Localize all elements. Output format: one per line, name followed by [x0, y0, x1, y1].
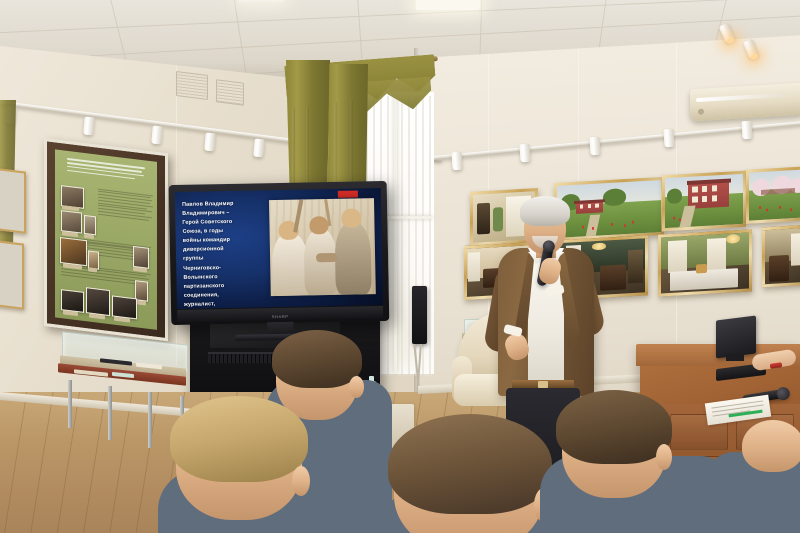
wall-frame-small — [0, 168, 26, 234]
wall-picture-red-manor — [662, 171, 746, 232]
spotlight — [519, 144, 530, 163]
slide-accent-bar — [338, 190, 358, 197]
display-case-leg — [148, 392, 152, 448]
panel-photo — [84, 215, 96, 235]
display-case-left — [56, 338, 188, 434]
ceiling-panel-light — [416, 0, 481, 10]
wall-picture-blossom-garden — [746, 166, 800, 224]
panel-photo — [133, 246, 149, 268]
cadet-hair — [388, 414, 552, 514]
tv-brand-logo: SHARP — [272, 314, 289, 319]
slide-historical-photo — [269, 198, 376, 296]
window-mullion — [394, 96, 397, 374]
computer-monitor[interactable] — [716, 318, 760, 362]
cadet-head — [742, 420, 800, 472]
wall-frame-small — [0, 240, 24, 310]
cadet-hair — [170, 396, 308, 482]
tv-screen[interactable]: Павлов Владимир Владимирович – Герой Сов… — [175, 188, 383, 309]
air-conditioner — [690, 83, 800, 122]
spotlight — [253, 139, 265, 158]
cadet-hair — [556, 390, 672, 464]
slide-text: Павлов Владимир Владимирович – Герой Сов… — [182, 199, 273, 309]
monitor-stand — [726, 354, 744, 361]
display-case-leg — [68, 380, 72, 428]
monitor-screen[interactable] — [716, 316, 756, 359]
spotlight — [589, 137, 600, 156]
panel-photo — [112, 296, 136, 319]
panel-heading-lines — [67, 156, 145, 187]
panel-photo — [61, 290, 83, 313]
ventilation-grille — [216, 79, 244, 105]
loudspeaker — [412, 286, 427, 344]
cadet-hair — [272, 330, 362, 388]
display-case-leg — [108, 386, 112, 440]
panel-field — [55, 149, 157, 330]
spotlight — [83, 117, 95, 136]
spotlight — [204, 133, 216, 152]
spotlight — [741, 121, 752, 140]
exhibition-info-panel — [44, 138, 168, 341]
panel-photo — [86, 287, 110, 316]
ventilation-grille — [176, 71, 208, 100]
cadet-ear — [349, 376, 364, 398]
cadet-ear — [656, 444, 672, 470]
panel-photo — [88, 251, 99, 269]
presentation-tv[interactable]: Павлов Владимир Владимирович – Герой Сов… — [169, 181, 390, 325]
presenter-hair — [520, 196, 570, 226]
panel-photo — [60, 237, 86, 266]
spotlight — [151, 126, 163, 145]
wall-picture-corner-interior — [762, 225, 800, 288]
cadet-ear — [292, 466, 310, 496]
photo-scene: Павлов Владимир Владимирович – Герой Сов… — [0, 0, 800, 533]
spotlight — [451, 152, 462, 171]
wall-picture-dining-room — [658, 229, 752, 296]
ceiling-panel-light — [237, 0, 284, 2]
wall-picture-manor-garden — [554, 177, 664, 241]
panel-photo — [61, 211, 82, 234]
spotlight — [663, 129, 674, 148]
